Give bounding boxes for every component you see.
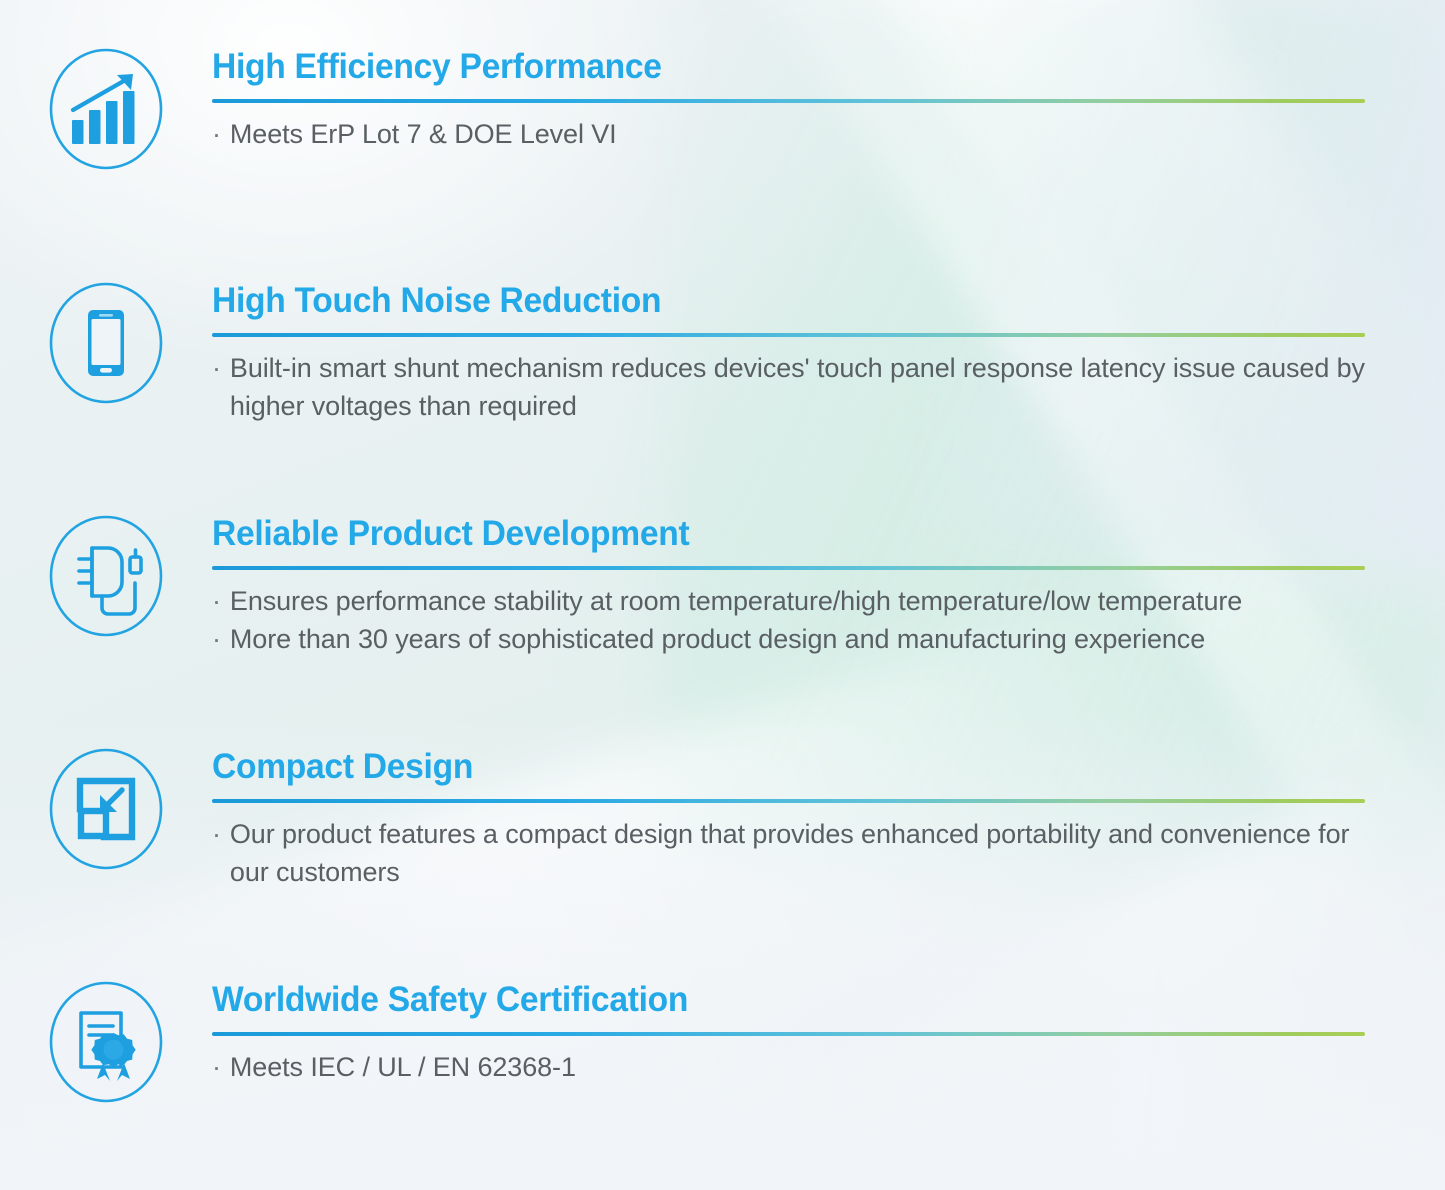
certificate-award-icon (45, 981, 167, 1103)
feature-title: Compact Design (212, 746, 1319, 788)
feature-icon-cell (0, 280, 212, 404)
feature-title: Worldwide Safety Certification (212, 979, 1319, 1021)
feature-divider (212, 1032, 1365, 1036)
feature-text-cell: High Efficiency Performance · Meets ErP … (212, 46, 1445, 153)
feature-divider (212, 799, 1365, 803)
bullet-text: Meets ErP Lot 7 & DOE Level VI (230, 115, 1365, 153)
feature-icon-cell (0, 979, 212, 1103)
feature-title: High Efficiency Performance (212, 46, 1319, 88)
feature-item-compact-design: Compact Design · Our product features a … (0, 746, 1445, 891)
bullet-text: Meets IEC / UL / EN 62368-1 (230, 1048, 1365, 1086)
feature-bullet-list: · Built-in smart shunt mechanism reduces… (212, 349, 1365, 425)
feature-text-cell: High Touch Noise Reduction · Built-in sm… (212, 280, 1445, 425)
feature-icon-cell (0, 46, 212, 170)
feature-item-worldwide-safety-certification: Worldwide Safety Certification · Meets I… (0, 979, 1445, 1103)
bullet-marker: · (212, 349, 221, 387)
feature-divider (212, 99, 1365, 103)
feature-text-cell: Worldwide Safety Certification · Meets I… (212, 979, 1445, 1086)
feature-infographic-page: High Efficiency Performance · Meets ErP … (0, 0, 1445, 1190)
feature-bullet-list: · Ensures performance stability at room … (212, 582, 1365, 658)
feature-text-cell: Compact Design · Our product features a … (212, 746, 1445, 891)
feature-title: High Touch Noise Reduction (212, 280, 1319, 322)
feature-icon-cell (0, 513, 212, 637)
bullet-marker: · (212, 115, 221, 153)
feature-divider (212, 566, 1365, 570)
feature-text-cell: Reliable Product Development · Ensures p… (212, 513, 1445, 658)
bullet-marker: · (212, 1048, 221, 1086)
bullet-marker: · (212, 620, 221, 658)
bullet-text: Our product features a compact design th… (230, 815, 1365, 891)
bullet-text: Ensures performance stability at room te… (230, 582, 1365, 620)
bullet-marker: · (212, 582, 221, 620)
feature-bullet: · Ensures performance stability at room … (212, 582, 1365, 620)
feature-bullet-list: · Meets ErP Lot 7 & DOE Level VI (212, 115, 1365, 153)
feature-item-high-touch-noise-reduction: High Touch Noise Reduction · Built-in sm… (0, 280, 1445, 425)
feature-item-reliable-product-development: Reliable Product Development · Ensures p… (0, 513, 1445, 658)
feature-bullet: · Built-in smart shunt mechanism reduces… (212, 349, 1365, 425)
feature-title: Reliable Product Development (212, 513, 1319, 555)
smartphone-icon (45, 282, 167, 404)
feature-item-high-efficiency-performance: High Efficiency Performance · Meets ErP … (0, 46, 1445, 170)
feature-bullet: · More than 30 years of sophisticated pr… (212, 620, 1365, 658)
power-adapter-icon (45, 515, 167, 637)
bullet-marker: · (212, 815, 221, 853)
compact-resize-icon (45, 748, 167, 870)
feature-bullet-list: · Meets IEC / UL / EN 62368-1 (212, 1048, 1365, 1086)
feature-bullet: · Meets ErP Lot 7 & DOE Level VI (212, 115, 1365, 153)
bullet-text: More than 30 years of sophisticated prod… (230, 620, 1365, 658)
bullet-text: Built-in smart shunt mechanism reduces d… (230, 349, 1365, 425)
bar-chart-growth-icon (45, 48, 167, 170)
feature-icon-cell (0, 746, 212, 870)
feature-bullet-list: · Our product features a compact design … (212, 815, 1365, 891)
feature-bullet: · Meets IEC / UL / EN 62368-1 (212, 1048, 1365, 1086)
feature-bullet: · Our product features a compact design … (212, 815, 1365, 891)
feature-divider (212, 333, 1365, 337)
